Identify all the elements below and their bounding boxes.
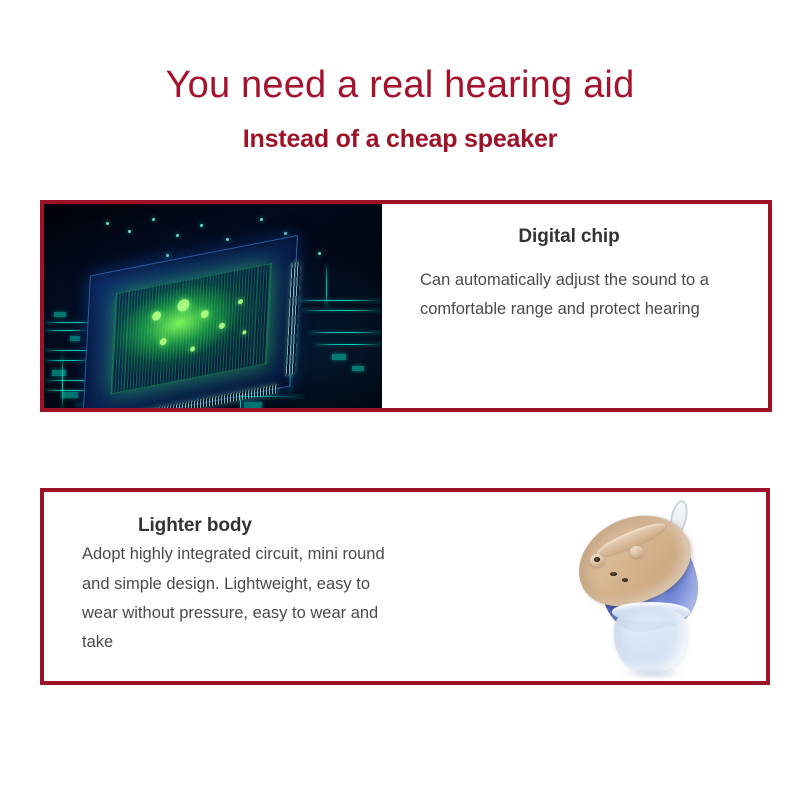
solder-dot-icon bbox=[284, 232, 287, 235]
die-glow-dot bbox=[190, 346, 195, 352]
trace-icon bbox=[296, 300, 382, 301]
solder-dot-icon bbox=[200, 224, 203, 227]
solder-dot-icon bbox=[318, 252, 321, 255]
trace-icon bbox=[326, 264, 327, 308]
solder-dot-icon bbox=[106, 222, 109, 225]
solder-dot-icon bbox=[226, 238, 229, 241]
feature-card-digital-chip: Digital chip Can automatically adjust th… bbox=[40, 200, 772, 412]
mic-port-icon bbox=[610, 572, 617, 576]
smd-pad-icon bbox=[52, 370, 66, 376]
trace-icon bbox=[44, 330, 88, 331]
battery-port-icon bbox=[594, 557, 600, 562]
product-shadow bbox=[620, 668, 686, 680]
smd-pad-icon bbox=[62, 392, 78, 398]
hearing-aid-icon bbox=[568, 498, 743, 683]
trace-icon bbox=[62, 354, 63, 408]
card-heading: Digital chip bbox=[420, 226, 738, 248]
card-text-pane: Lighter body Adopt highly integrated cir… bbox=[44, 511, 546, 661]
die-glow-dot bbox=[238, 299, 243, 305]
solder-dot-icon bbox=[260, 218, 263, 221]
infographic-page: You need a real hearing aid Instead of a… bbox=[0, 0, 800, 800]
smd-pad-icon bbox=[332, 354, 346, 360]
hearing-aid-product-photo bbox=[546, 492, 766, 681]
smd-pad-icon bbox=[70, 336, 80, 341]
card-body-text: Adopt highly integrated circuit, mini ro… bbox=[82, 540, 392, 657]
card-heading: Lighter body bbox=[82, 515, 536, 537]
circuit-board-chip-photo bbox=[44, 204, 382, 408]
trace-icon bbox=[308, 332, 382, 333]
card-text-pane: Digital chip Can automatically adjust th… bbox=[382, 204, 768, 408]
trace-icon bbox=[314, 344, 382, 345]
chip-die-glow bbox=[110, 263, 271, 394]
solder-dot-icon bbox=[152, 218, 155, 221]
smd-pad-icon bbox=[54, 312, 66, 317]
die-glow-dot bbox=[201, 310, 209, 320]
page-subheadline: Instead of a cheap speaker bbox=[0, 124, 800, 155]
mic-knob-icon bbox=[630, 546, 643, 558]
smd-pad-icon bbox=[244, 402, 262, 408]
die-glow-dot bbox=[160, 337, 167, 345]
page-headline: You need a real hearing aid bbox=[0, 62, 800, 110]
die-glow-dot bbox=[243, 330, 247, 335]
solder-dot-icon bbox=[128, 230, 131, 233]
card-body-text: Can automatically adjust the sound to a … bbox=[420, 266, 710, 325]
trace-icon bbox=[302, 310, 382, 311]
die-glow-dot bbox=[219, 322, 225, 329]
die-glow-dot bbox=[177, 298, 190, 312]
smd-pad-icon bbox=[352, 366, 364, 371]
silicone-dome-tip bbox=[614, 606, 688, 672]
solder-dot-icon bbox=[176, 234, 179, 237]
die-glow-dot bbox=[152, 311, 161, 322]
solder-dot-icon bbox=[166, 254, 169, 257]
feature-card-lighter-body: Lighter body Adopt highly integrated cir… bbox=[40, 488, 770, 685]
mic-port-icon bbox=[622, 578, 628, 582]
